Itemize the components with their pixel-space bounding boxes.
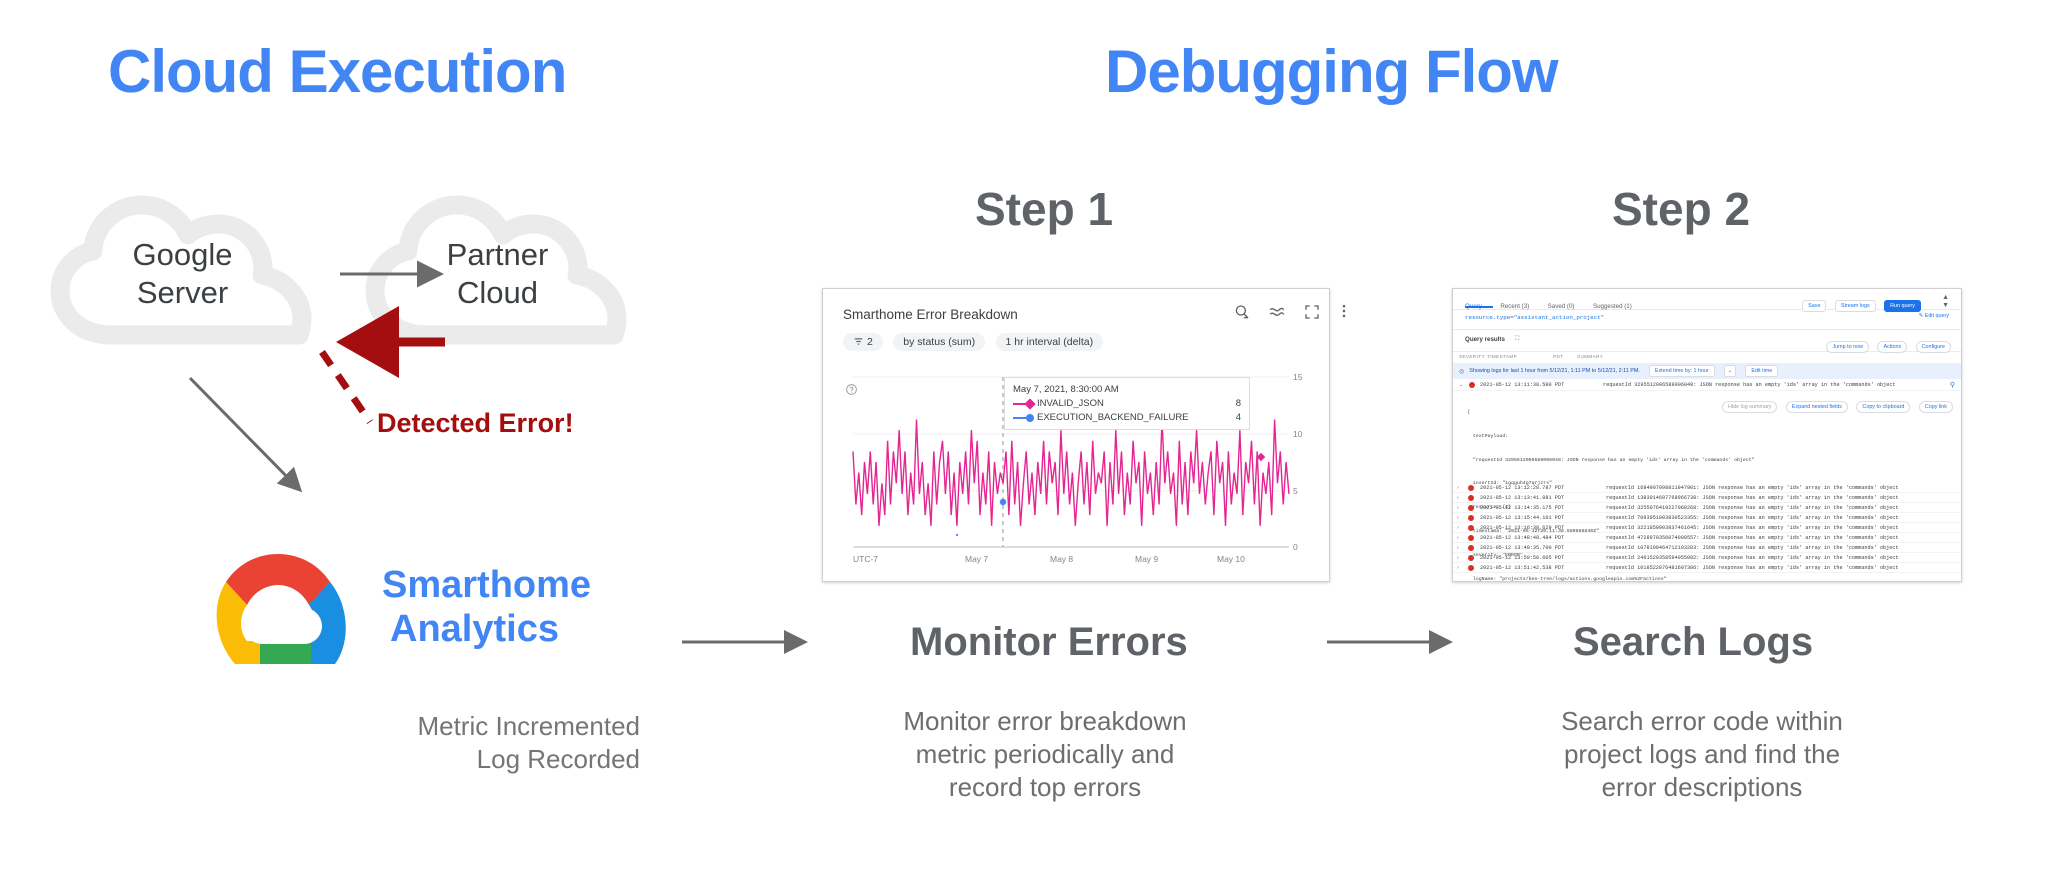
flow-arrow-1	[680, 630, 815, 654]
query-text[interactable]: resource.type="assistant_action_project"	[1465, 314, 1604, 321]
log-row-summary: requestId 3255076419227068268: JSON resp…	[1606, 505, 1899, 511]
severity-error-icon	[1469, 382, 1475, 388]
left-caption: Metric Incremented Log Recorded	[220, 710, 640, 776]
step-2-label: Search Logs	[1573, 620, 1813, 665]
log-row-timestamp: 2021-05-12 13:13:41.081 PDT	[1480, 495, 1600, 501]
flow-arrow-2	[1325, 630, 1460, 654]
logs-tab-bar: Query Recent (3) Saved (0) Suggested (1)…	[1453, 289, 1961, 310]
row-expand-caret[interactable]: ›	[1457, 565, 1462, 571]
chart-groupby-chip[interactable]: by status (sum)	[893, 333, 985, 351]
row-expand-caret[interactable]: ›	[1457, 555, 1462, 561]
copy-to-clipboard-button[interactable]: Copy to clipboard	[1856, 401, 1910, 413]
x-tz-label: UTC-7	[853, 554, 878, 564]
json-line-2: "requestId 3295512006589006048: JSON res…	[1467, 457, 1797, 465]
left-caption-line2: Log Recorded	[220, 743, 640, 776]
severity-error-icon	[1468, 565, 1474, 571]
chart-title: Smarthome Error Breakdown	[843, 307, 1018, 322]
severity-error-icon	[1468, 555, 1474, 561]
step-2-caption-line3: error descriptions	[1502, 771, 1902, 804]
json-line-0: {	[1467, 409, 1797, 417]
log-row-summary: requestId 1018522876481607386: JSON resp…	[1606, 565, 1899, 571]
step-2-heading: Step 2	[1612, 182, 1750, 236]
x-tick-may8: May 8	[1050, 554, 1073, 564]
step-1-caption: Monitor error breakdown metric periodica…	[845, 705, 1245, 803]
x-tick-may9: May 9	[1135, 554, 1158, 564]
page-title-debugging-flow: Debugging Flow	[1105, 37, 1558, 106]
log-row-timestamp: 2021-05-12 13:49:35.700 PDT	[1480, 545, 1600, 551]
info-banner-text: Showing logs for last 1 hour from 5/12/2…	[1469, 368, 1640, 374]
page-title-cloud-execution: Cloud Execution	[108, 37, 566, 106]
tooltip-series-name-2: EXECUTION_BACKEND_FAILURE	[1037, 412, 1189, 423]
col-summary: SUMMARY	[1577, 354, 1603, 359]
smarthome-analytics-label: Smarthome Analytics	[382, 563, 591, 651]
step-2-caption: Search error code within project logs an…	[1502, 705, 1902, 803]
expanded-row-timestamp: 2021-05-12 13:11:38.580 PDT	[1480, 382, 1598, 388]
y-tick-10: 10	[1293, 429, 1302, 439]
json-line-7: logName: "projects/ben-tree/logs/actions…	[1467, 576, 1797, 582]
chart-filter-chip[interactable]: 2	[843, 333, 883, 351]
log-row[interactable]: ›2021-05-12 13:48:48.484 PDTrequestId 47…	[1453, 533, 1961, 543]
expanded-row-summary: requestId 3295512006589006048: JSON resp…	[1603, 382, 1896, 388]
log-row-summary: requestId 1684907998811947901: JSON resp…	[1606, 485, 1899, 491]
row-expand-caret[interactable]: ›	[1457, 505, 1462, 511]
log-row-summary: requestId 7093951003830523355: JSON resp…	[1606, 515, 1899, 521]
edit-query-label: Edit query	[1925, 313, 1949, 319]
log-row-summary: requestId 4728970356074000557: JSON resp…	[1606, 535, 1899, 541]
json-line-1: textPayload:	[1467, 433, 1797, 441]
tooltip-series-value: 8	[1218, 398, 1241, 409]
extend-time-button[interactable]: Extend time by: 1 hour	[1649, 365, 1715, 377]
log-row-timestamp: 2021-05-12 13:14:35.175 PDT	[1480, 505, 1600, 511]
tooltip-series-value-2: 4	[1218, 412, 1241, 423]
log-row-timestamp: 2021-05-12 13:16:38.629 PDT	[1480, 525, 1600, 531]
edit-query-button[interactable]: ✎ Edit query	[1919, 313, 1949, 319]
log-row-timestamp: 2021-05-12 13:12:28.787 PDT	[1480, 485, 1600, 491]
chart-tooltip: May 7, 2021, 8:30:00 AM INVALID_JSON 8 E…	[1004, 377, 1250, 430]
severity-error-icon	[1468, 515, 1474, 521]
extend-time-dropdown-icon[interactable]: ⌄	[1724, 365, 1737, 377]
chart-highlight-point	[1000, 499, 1006, 505]
col-pdt[interactable]: PDT	[1553, 354, 1563, 359]
col-timestamp: TIMESTAMP	[1487, 354, 1517, 359]
severity-error-icon	[1468, 485, 1474, 491]
log-row-summary: requestId 1383014697768966738: JSON resp…	[1606, 495, 1899, 501]
chart-chips: 2 by status (sum) 1 hr interval (delta)	[843, 333, 1109, 351]
chart-more-vert-icon[interactable]	[1335, 302, 1353, 325]
y-tick-15: 15	[1293, 372, 1302, 382]
chart-y-axis: 15 10 5 0	[1293, 369, 1327, 551]
error-breakdown-chart-panel: Smarthome Error Breakdown 2 by status (s…	[822, 288, 1330, 582]
severity-error-icon	[1468, 545, 1474, 551]
col-severity: SEVERITY	[1459, 354, 1485, 359]
log-row-summary: requestId 3221859903837461645: JSON resp…	[1606, 525, 1899, 531]
step-1-label: Monitor Errors	[910, 620, 1188, 665]
chart-search-icon[interactable]	[1233, 303, 1251, 326]
chart-interval-chip[interactable]: 1 hr interval (delta)	[996, 333, 1104, 351]
product-line2: Analytics	[390, 607, 591, 651]
query-results-row: Query results ⛶ Jump to now Actions Conf…	[1453, 329, 1961, 352]
tooltip-timestamp: May 7, 2021, 8:30:00 AM	[1013, 384, 1241, 395]
detected-error-label: Detected Error!	[377, 408, 574, 439]
logs-explorer-panel: Query Recent (3) Saved (0) Suggested (1)…	[1452, 288, 1962, 582]
step-2-caption-line1: Search error code within	[1502, 705, 1902, 738]
log-row-timestamp: 2021-05-12 13:15:44.101 PDT	[1480, 515, 1600, 521]
query-results-label: Query results	[1465, 336, 1505, 343]
tooltip-row-invalid-json: INVALID_JSON 8	[1013, 398, 1241, 409]
step-1-caption-line3: record top errors	[845, 771, 1245, 804]
step-1-caption-line2: metric periodically and	[845, 738, 1245, 771]
row-expand-caret[interactable]: ›	[1457, 515, 1462, 521]
copy-link-button[interactable]: Copy link	[1919, 401, 1953, 413]
log-row-summary: requestId 2461529358594055092: JSON resp…	[1606, 555, 1899, 561]
step-1-caption-line1: Monitor error breakdown	[845, 705, 1245, 738]
x-tick-may10: May 10	[1217, 554, 1245, 564]
info-icon: ◎	[1459, 368, 1464, 375]
log-row-timestamp: 2021-05-12 13:51:42.538 PDT	[1480, 565, 1600, 571]
row-expand-caret[interactable]: ›	[1457, 495, 1462, 501]
row-expand-caret[interactable]: ›	[1457, 525, 1462, 531]
logs-info-banner: ◎ Showing logs for last 1 hour from 5/12…	[1453, 363, 1961, 379]
severity-error-icon	[1468, 525, 1474, 531]
tooltip-series-name: INVALID_JSON	[1037, 398, 1104, 409]
log-row[interactable]: ›2021-05-12 13:14:35.175 PDTrequestId 32…	[1453, 503, 1961, 513]
legend-swatch-invalid-json	[1013, 403, 1031, 405]
tab-active-underline	[1465, 306, 1493, 308]
chart-lines-icon[interactable]	[1268, 303, 1286, 326]
legend-swatch-execution-backend-failure	[1013, 417, 1031, 419]
google-cloud-logo	[205, 548, 351, 670]
y-tick-0: 0	[1293, 542, 1298, 552]
log-row[interactable]: ›2021-05-12 13:49:35.700 PDTrequestId 10…	[1453, 543, 1961, 553]
left-caption-line1: Metric Incremented	[220, 710, 640, 743]
log-row-timestamp: 2021-05-12 13:50:50.605 PDT	[1480, 555, 1600, 561]
severity-error-icon	[1468, 505, 1474, 511]
x-tick-may7: May 7	[965, 554, 988, 564]
step-1-heading: Step 1	[975, 182, 1113, 236]
pencil-icon: ✎	[1919, 313, 1924, 319]
y-tick-5: 5	[1293, 486, 1298, 496]
results-expand-icon[interactable]: ⛶	[1515, 336, 1519, 343]
expanded-log-row[interactable]: ⌄ 2021-05-12 13:11:38.580 PDT requestId …	[1453, 379, 1961, 391]
row-expand-caret[interactable]: ⌄	[1459, 382, 1464, 388]
severity-error-icon	[1468, 495, 1474, 501]
log-row[interactable]: ›2021-05-12 13:12:28.787 PDTrequestId 16…	[1453, 483, 1961, 493]
filter-icon	[853, 337, 864, 346]
severity-error-icon	[1468, 535, 1474, 541]
expand-collapse-icon[interactable]: ▲▼	[1942, 294, 1949, 310]
row-expand-caret[interactable]: ›	[1457, 545, 1462, 551]
log-row-summary: requestId 1078109464712103203: JSON resp…	[1606, 545, 1899, 551]
log-row[interactable]: ›2021-05-12 13:16:38.629 PDTrequestId 32…	[1453, 523, 1961, 533]
step-2-caption-line2: project logs and find the	[1502, 738, 1902, 771]
row-expand-caret[interactable]: ›	[1457, 485, 1462, 491]
query-editor-row: resource.type="assistant_action_project"…	[1453, 309, 1961, 330]
chart-filter-count: 2	[867, 336, 873, 348]
log-row[interactable]: ›2021-05-12 13:13:41.081 PDTrequestId 13…	[1453, 493, 1961, 503]
tooltip-row-execution-backend-failure: EXECUTION_BACKEND_FAILURE 4	[1013, 412, 1241, 423]
logs-row-list: ›2021-05-12 13:12:28.787 PDTrequestId 16…	[1453, 483, 1961, 573]
log-row[interactable]: ›2021-05-12 13:15:44.101 PDTrequestId 70…	[1453, 513, 1961, 523]
product-line1: Smarthome	[382, 563, 591, 607]
row-expand-caret[interactable]: ›	[1457, 535, 1462, 541]
log-row-timestamp: 2021-05-12 13:48:48.484 PDT	[1480, 535, 1600, 541]
chart-fullscreen-icon[interactable]	[1303, 303, 1321, 326]
edit-time-button[interactable]: Edit time	[1745, 365, 1778, 377]
log-row[interactable]: ›2021-05-12 13:51:42.538 PDTrequestId 10…	[1453, 563, 1961, 573]
log-row[interactable]: ›2021-05-12 13:50:50.605 PDTrequestId 24…	[1453, 553, 1961, 563]
pin-icon[interactable]: ⚲	[1950, 381, 1955, 389]
